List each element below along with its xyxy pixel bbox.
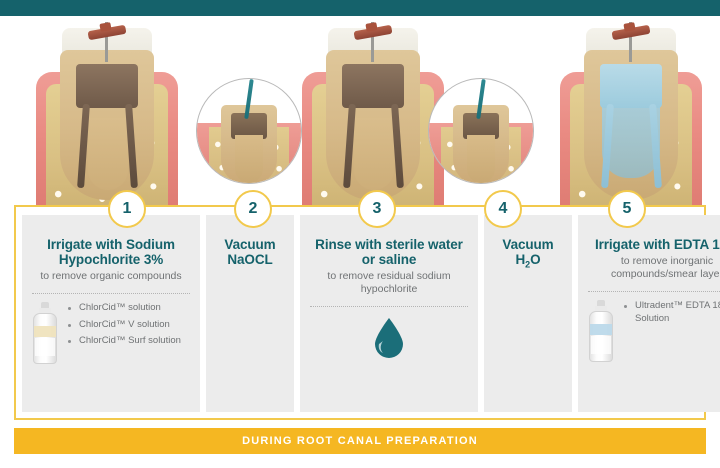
infographic-canvas: Irrigate with Sodium Hypochlorite 3% to … [0, 0, 720, 468]
bottle-label-band [34, 326, 56, 337]
edta-bottle [588, 300, 614, 362]
root-furcation [354, 118, 394, 190]
step-card-1[interactable]: Irrigate with Sodium Hypochlorite 3% to … [22, 215, 200, 412]
list-item: ChlorCid™ V solution [68, 319, 192, 332]
step-card-3[interactable]: Rinse with sterile water or saline to re… [300, 215, 478, 412]
step-3-subtitle: to remove residual sodium hypochlorite [308, 270, 470, 296]
step-4-title: VacuumH2O [492, 237, 564, 273]
pulp-chamber [342, 64, 404, 108]
step-1-head: Irrigate with Sodium Hypochlorite 3% to … [30, 237, 192, 283]
step-4-head: VacuumH2O [492, 237, 564, 273]
list-item: ChlorCid™ solution [68, 302, 192, 315]
magnified-suction-inset-step4 [428, 78, 534, 184]
pulp-chamber [76, 64, 138, 108]
step-3-head: Rinse with sterile water or saline to re… [308, 237, 470, 296]
step-2-title: VacuumNaOCL [214, 237, 286, 267]
step-5-subtitle: to remove inorganic compounds/smear laye… [586, 255, 720, 281]
list-item: ChlorCid™ Surf solution [68, 335, 192, 348]
step-5-body: Ultradent™ EDTA 18% Solution [586, 292, 720, 404]
water-drop-icon [372, 317, 406, 359]
bottle-label-band [590, 324, 612, 335]
step-5-title: Irrigate with EDTA 18% [586, 237, 720, 252]
top-teal-bar [0, 0, 720, 16]
step-1-body: ChlorCid™ solution ChlorCid™ V solution … [30, 294, 192, 404]
step-card-4[interactable]: VacuumH2O [484, 215, 572, 412]
step-badge-5[interactable]: 5 [608, 190, 646, 228]
list-item: Ultradent™ EDTA 18% Solution [624, 300, 720, 325]
step-5-product-list: Ultradent™ EDTA 18% Solution [614, 300, 720, 329]
bottle-label [35, 338, 55, 356]
step-2-head: VacuumNaOCL [214, 237, 286, 267]
step-1-subtitle: to remove organic compounds [30, 270, 192, 283]
step-3-title: Rinse with sterile water or saline [308, 237, 470, 267]
step-card-5[interactable]: Irrigate with EDTA 18% to remove inorgan… [578, 215, 720, 412]
step-badge-1[interactable]: 1 [108, 190, 146, 228]
chlorcid-bottle [32, 302, 58, 364]
step-badge-2[interactable]: 2 [234, 190, 272, 228]
inset-root [467, 135, 495, 183]
bottle-label [591, 336, 611, 354]
pulp-chamber [600, 64, 662, 108]
step-3-icon-wrap [308, 315, 470, 359]
step-1-product-list: ChlorCid™ solution ChlorCid™ V solution … [58, 302, 192, 352]
steps-panel: Irrigate with Sodium Hypochlorite 3% to … [14, 205, 706, 420]
tooth-cross-section-step1 [32, 22, 182, 212]
step-1-title: Irrigate with Sodium Hypochlorite 3% [30, 237, 192, 267]
step-card-2[interactable]: VacuumNaOCL [206, 215, 294, 412]
root-furcation [88, 118, 128, 190]
step-badge-3[interactable]: 3 [358, 190, 396, 228]
bottom-banner: DURING ROOT CANAL PREPARATION [14, 428, 706, 454]
tooth-cross-section-step5-edta [556, 22, 706, 212]
inset-root [235, 135, 263, 183]
step-5-head: Irrigate with EDTA 18% to remove inorgan… [586, 237, 720, 281]
tooth-cross-section-step3 [298, 22, 448, 212]
step-badge-4[interactable]: 4 [484, 190, 522, 228]
step-3-body [308, 307, 470, 404]
magnified-suction-inset-step2 [196, 78, 302, 184]
illustration-band [0, 16, 720, 212]
